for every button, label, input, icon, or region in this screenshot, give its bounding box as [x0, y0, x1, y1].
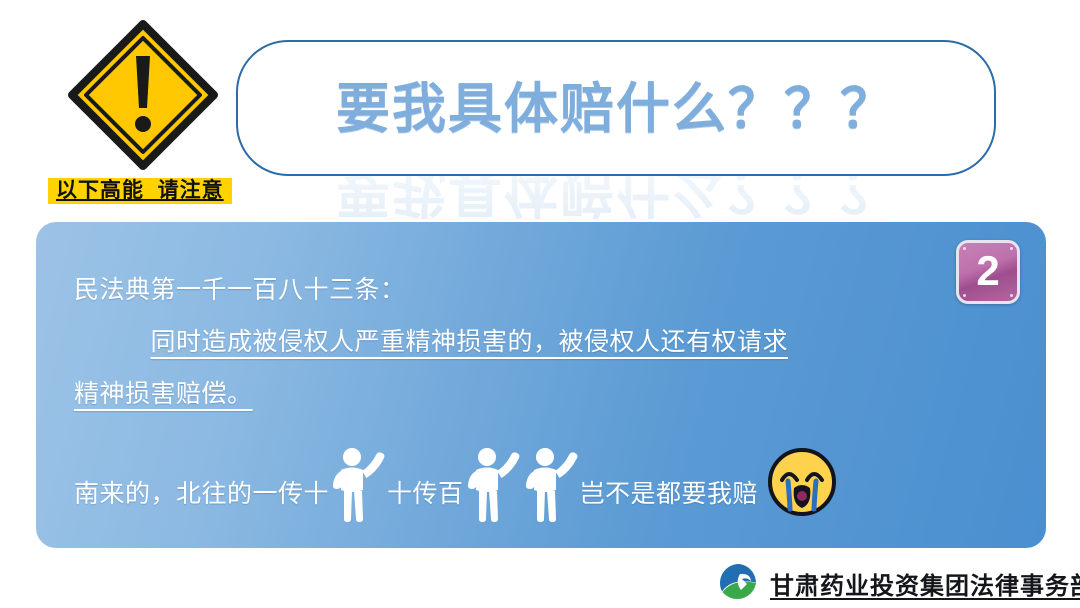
person-waving-icon — [466, 446, 520, 522]
legal-clause-block: 民法典第一千一百八十三条： 同时造成被侵权人严重精神损害的，被侵权人还有权请求 … — [74, 264, 994, 420]
legal-clause-body-line-1: 同时造成被侵权人严重精神损害的，被侵权人还有权请求 — [151, 328, 789, 356]
caption-part-3: 岂不是都要我赔 — [580, 474, 759, 510]
footer-logo: 甘肃药业投资集团法律事务部 — [718, 562, 1080, 604]
person-waving-icon — [331, 446, 385, 522]
legal-clause-heading: 民法典第一千一百八十三条： — [74, 264, 994, 316]
caption-part-1: 南来的，北往的一传十 — [74, 474, 329, 510]
crying-face-emoji-icon — [766, 446, 838, 518]
legal-clause-body-line-2: 精神损害赔偿。 — [74, 380, 253, 408]
caption-row: 南来的，北往的一传十 十传百 — [74, 442, 838, 522]
badge-corner-dot — [1010, 247, 1013, 250]
caution-banner: 以下高能 请注意 — [48, 178, 232, 204]
person-waving-icon — [524, 446, 578, 522]
badge-corner-dot — [1010, 294, 1013, 297]
title-pill-frame — [236, 40, 996, 176]
footer-org-name: 甘肃药业投资集团法律事务部 — [770, 566, 1080, 601]
content-panel: 2 民法典第一千一百八十三条： 同时造成被侵权人严重精神损害的，被侵权人还有权请… — [36, 222, 1046, 548]
caution-banner-text: 以下高能 请注意 — [56, 180, 224, 201]
legal-clause-indent — [74, 328, 151, 356]
caption-part-2: 十传百 — [387, 474, 464, 510]
leaf-circle-logo-icon — [718, 562, 760, 604]
badge-corner-dot — [963, 247, 966, 250]
warning-triangle-icon — [66, 18, 220, 172]
